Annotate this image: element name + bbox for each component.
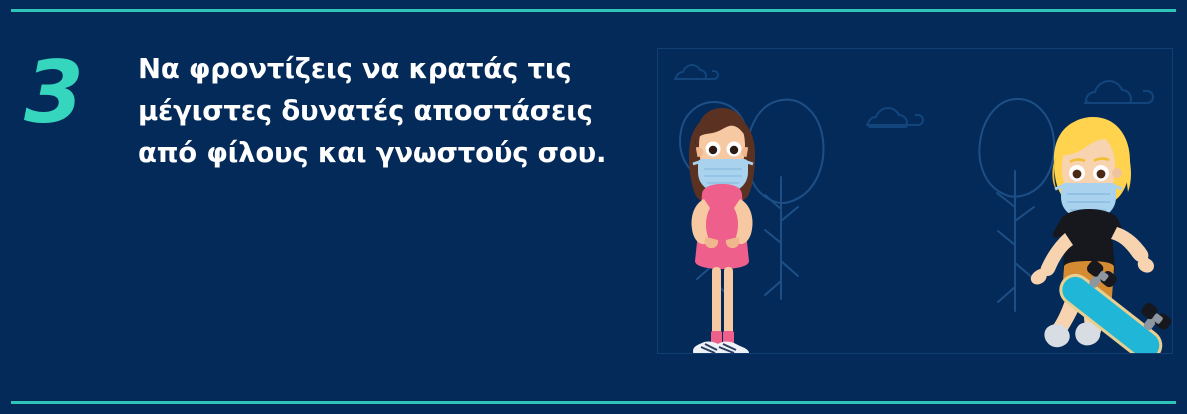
boy-skateboarding [1031,117,1172,353]
cloud-left-icon [674,65,718,79]
cloud-middle-icon [866,108,923,127]
cloud-right-icon [1084,81,1153,103]
girl-standing [689,108,755,353]
slide-root: 3 Να φροντίζεις να κρατάς τις μέγιστες δ… [0,0,1187,414]
top-accent-rule [11,9,1176,12]
step-number: 3 [24,38,120,148]
illustration-panel [657,48,1173,354]
tree-middle-icon [747,100,824,299]
bottom-accent-rule [11,401,1176,404]
illustration-svg [658,49,1172,353]
tip-text: Να φροντίζεις να κρατάς τις μέγιστες δυν… [138,48,608,174]
